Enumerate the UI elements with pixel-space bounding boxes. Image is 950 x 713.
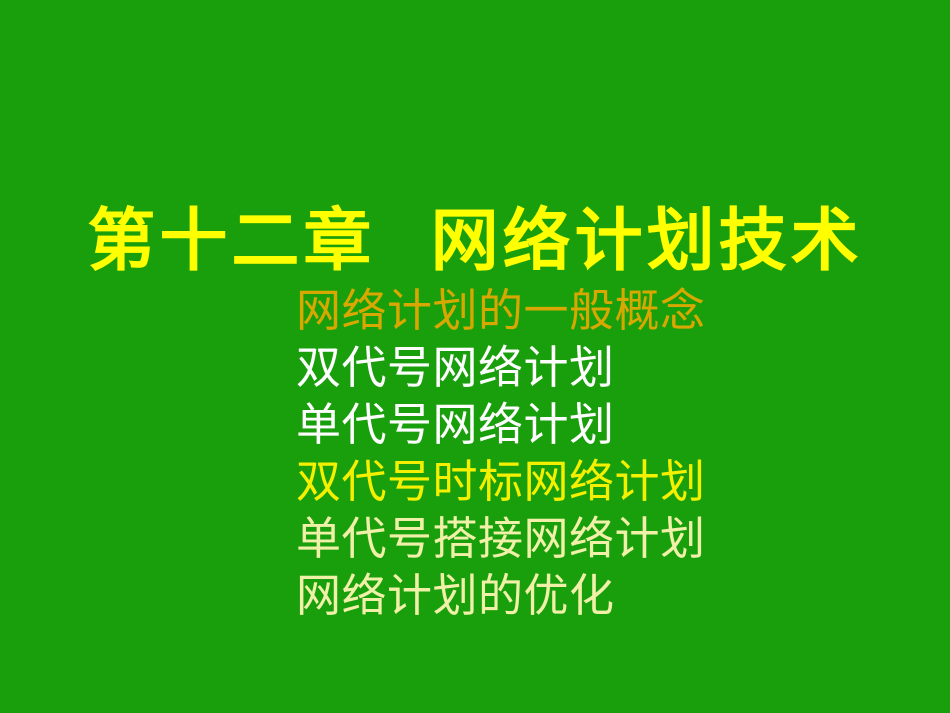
outline-list: 网络计划的一般概念 双代号网络计划 单代号网络计划 双代号时标网络计划 单代号搭… [296, 282, 896, 624]
list-item-single-code-lap-network[interactable]: 单代号搭接网络计划 [296, 510, 896, 567]
list-item-single-code-network[interactable]: 单代号网络计划 [296, 396, 896, 453]
list-item-double-code-network[interactable]: 双代号网络计划 [296, 339, 896, 396]
list-item-general-concept[interactable]: 网络计划的一般概念 [296, 282, 896, 339]
list-item-network-optimization[interactable]: 网络计划的优化 [296, 567, 896, 624]
presentation-slide: 第十二章 网络计划技术 网络计划的一般概念 双代号网络计划 单代号网络计划 双代… [0, 0, 950, 713]
page-title: 第十二章 网络计划技术 [0, 201, 950, 283]
list-item-double-code-timescale-network[interactable]: 双代号时标网络计划 [296, 453, 896, 510]
